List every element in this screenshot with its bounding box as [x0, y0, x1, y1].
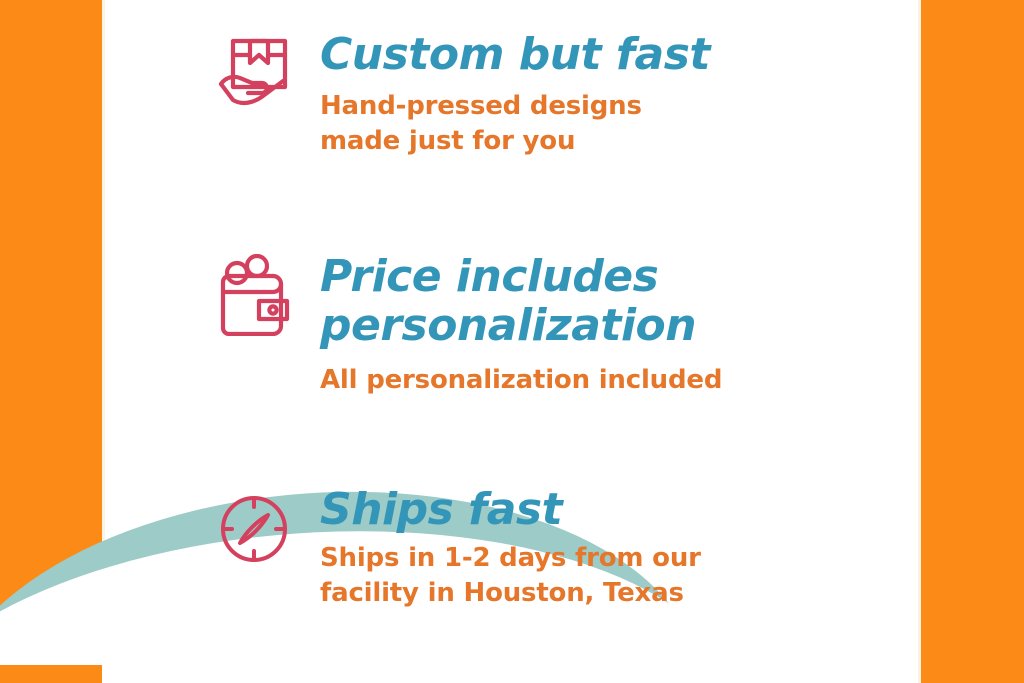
feature-subtext: Ships in 1-2 days from our facility in H… — [320, 541, 701, 611]
feature-item-price-includes-personalization: Price includes personalization All perso… — [215, 252, 722, 398]
feature-list: Custom but fast Hand-pressed designs mad… — [105, 0, 918, 683]
promo-banner: Custom but fast Hand-pressed designs mad… — [0, 0, 1024, 683]
feature-headline: Ships fast — [320, 488, 701, 532]
feature-subtext: All personalization included — [320, 363, 722, 398]
left-panel-bottom-accent — [0, 665, 102, 683]
compass-icon — [215, 488, 301, 568]
feature-text-block: Ships fast Ships in 1-2 days from our fa… — [301, 488, 701, 611]
wallet-with-coins-icon — [215, 252, 301, 336]
feature-item-custom-but-fast: Custom but fast Hand-pressed designs mad… — [215, 33, 710, 159]
right-orange-panel — [921, 0, 1024, 683]
feature-text-block: Custom but fast Hand-pressed designs mad… — [301, 33, 710, 159]
feature-subtext: Hand-pressed designs made just for you — [320, 89, 710, 159]
hand-holding-package-icon — [215, 33, 301, 109]
feature-headline: Price includes personalization — [320, 252, 722, 351]
feature-item-ships-fast: Ships fast Ships in 1-2 days from our fa… — [215, 488, 701, 611]
feature-text-block: Price includes personalization All perso… — [301, 252, 722, 398]
right-panel-seam — [918, 0, 921, 683]
feature-headline: Custom but fast — [320, 33, 710, 77]
